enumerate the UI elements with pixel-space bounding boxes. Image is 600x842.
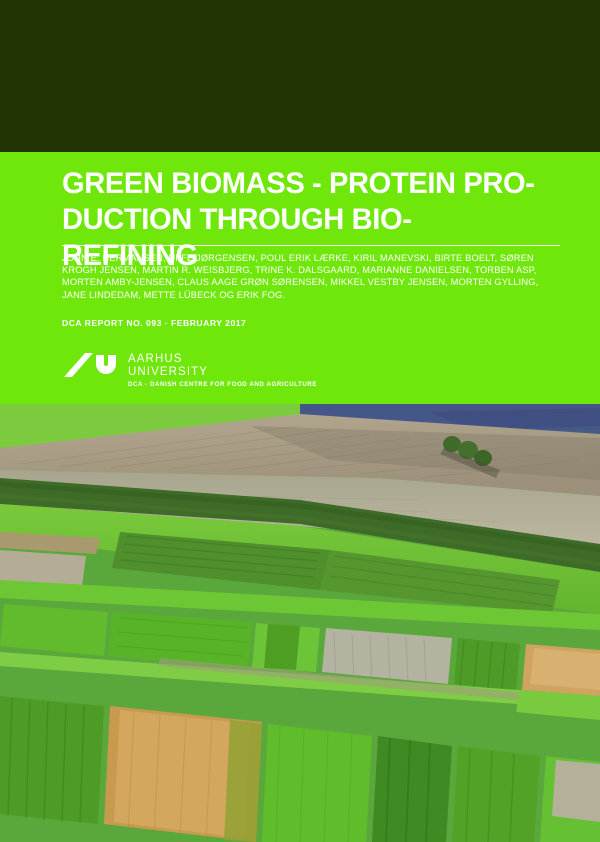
logo-subtitle: DCA - Danish Centre for Food and Agricul… [128,381,317,388]
logo-line-2: University [128,366,208,379]
au-mark-icon [62,352,122,380]
plot-row-b [0,696,600,842]
aarhus-university-logo: Aarhus University DCA - Danish Centre fo… [62,352,362,398]
title-divider [62,245,560,246]
aerial-field-illustration [0,404,600,842]
report-cover: Green biomass - protein pro- duction thr… [0,0,600,842]
top-dark-band [0,0,600,152]
logo-wordmark: Aarhus University [128,353,208,379]
title-line-1: Green biomass - protein pro- [62,166,547,202]
cover-photograph [0,404,600,842]
report-number: DCA report no. 093 · February 2017 [62,318,246,328]
author-list: John E. Hermansen, Uffe Jørgensen, Poul … [62,252,557,301]
logo-line-1: Aarhus [128,353,208,366]
